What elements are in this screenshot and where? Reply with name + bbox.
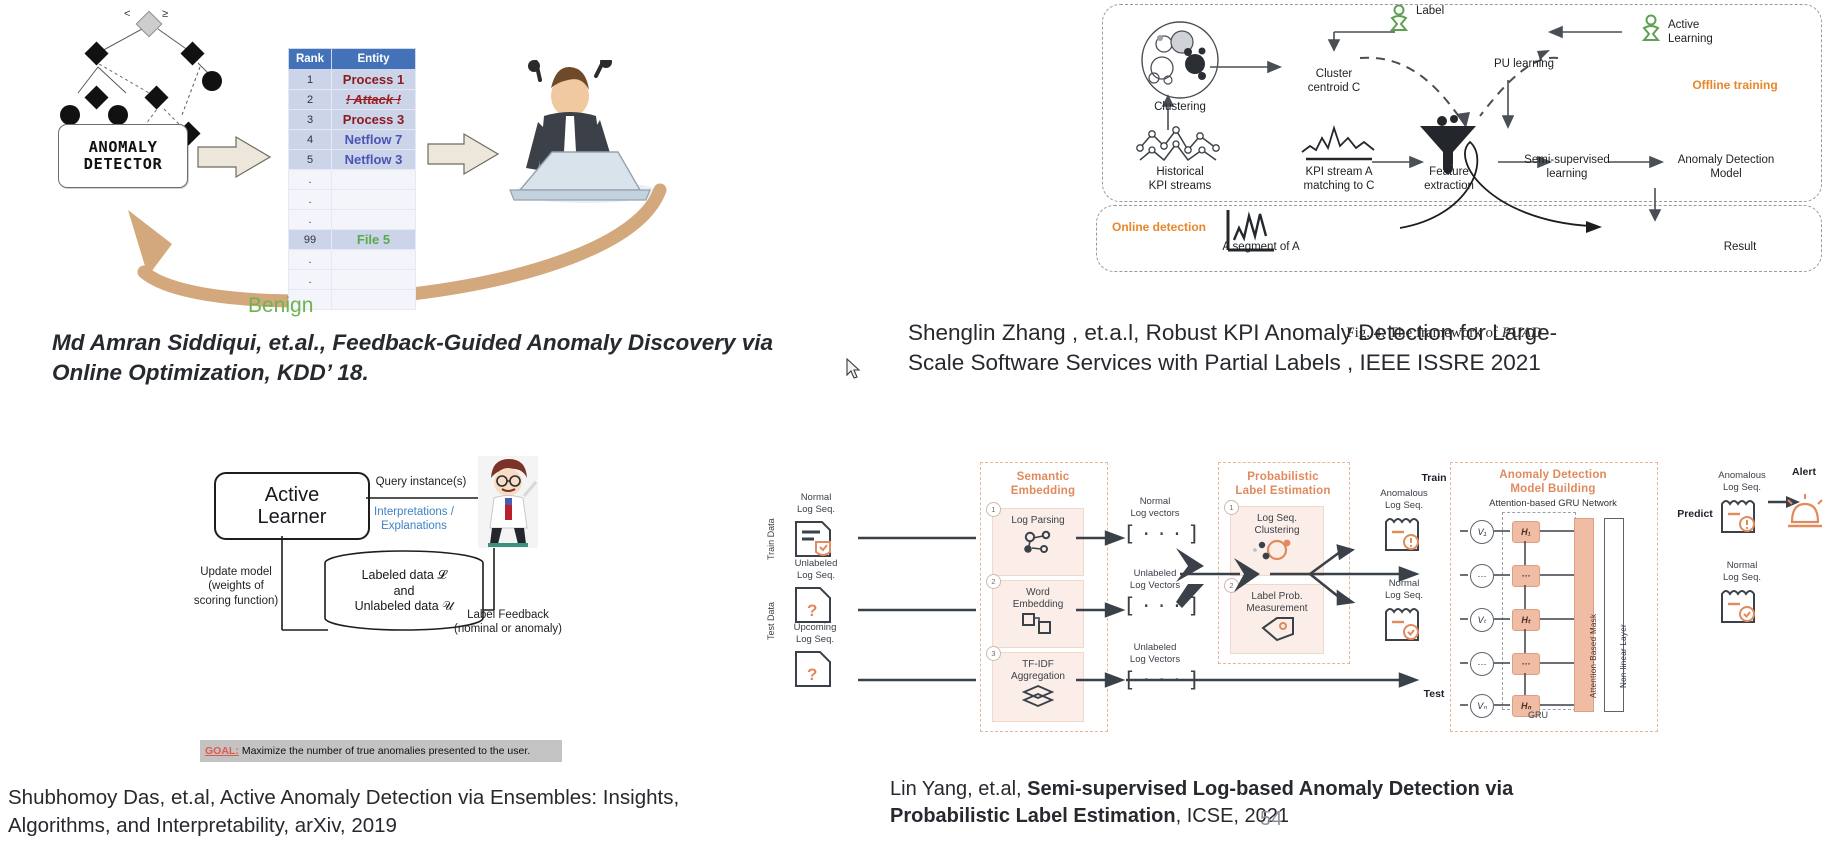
normal-log-doc-icon: [792, 520, 838, 560]
feature-extraction-label: Feature extraction: [1400, 165, 1498, 194]
table-cell-entity: Netflow 3: [332, 150, 416, 170]
table-cell-rank: .: [289, 250, 332, 270]
table-row: 2! Attack !: [289, 90, 416, 110]
table-cell-rank: 3: [289, 110, 332, 130]
table-cell-rank: 1: [289, 70, 332, 90]
table-cell-entity: [332, 190, 416, 210]
result-label: Result: [1700, 240, 1780, 254]
citation-das-line2: Algorithms, and Interpretability, arXiv,…: [8, 812, 798, 840]
citation-das-line1: Shubhomoy Das, et.al, Active Anomaly Det…: [8, 784, 798, 812]
analyst-expert-avatar: [478, 456, 538, 548]
table-cell-entity: [332, 210, 416, 230]
active-learning-person-icon: [1640, 14, 1662, 44]
column-header-rank: Rank: [289, 49, 332, 70]
detector-line-1: ANOMALY: [89, 139, 158, 156]
table-row: 1Process 1: [289, 70, 416, 90]
upcoming-log-doc-icon: ?: [792, 650, 838, 690]
active-learner-line2: Learner: [258, 506, 327, 528]
benign-loop-label: Benign: [248, 294, 313, 318]
active-learner-line1: Active: [265, 484, 319, 506]
table-cell-entity: [332, 270, 416, 290]
citation-siddiqui-line1: Md Amran Siddiqui, et.al., Feedback-Guid…: [52, 328, 812, 358]
citation-yang-line2: Probabilistic Label Estimation, ICSE, 20…: [890, 803, 1690, 830]
alert-label: Alert: [1776, 466, 1832, 479]
gru-network-block: V₁ ··· Vₜ ··· Vₙ H₁ ··· Hₜ ··· Hₙ Attent…: [1458, 512, 1648, 724]
pipeline-connectors: [840, 462, 1460, 730]
citation-yang-line1: Lin Yang, et.al, Semi-supervised Log-bas…: [890, 776, 1690, 803]
table-row: .: [289, 190, 416, 210]
table-cell-rank: 2: [289, 90, 332, 110]
table-cell-rank: 4: [289, 130, 332, 150]
train-data-side-label: Train Data: [766, 518, 776, 560]
table-cell-rank: .: [289, 210, 332, 230]
table-row: .: [289, 170, 416, 190]
column-header-entity: Entity: [332, 49, 416, 70]
pu-learning-label: PU learning: [1468, 57, 1580, 71]
active-learning-label: Active Learning: [1668, 18, 1748, 47]
goal-text: Maximize the number of true anomalies pr…: [242, 745, 530, 757]
mouse-cursor: [846, 358, 862, 380]
output-anomalous-icon: [1718, 496, 1762, 538]
anomaly-model-label: Anomaly Detection Model: [1654, 153, 1798, 182]
detector-line-2: DETECTOR: [84, 156, 163, 173]
label-node-label: Label: [1416, 4, 1476, 18]
table-header-row: Rank Entity: [289, 49, 416, 70]
kpi-stream-segment-icon: [1300, 124, 1384, 164]
output-anomalous-label: Anomalous Log Seq.: [1700, 470, 1784, 494]
tree-right-label: ≥: [162, 8, 168, 20]
citation-zhang: Shenglin Zhang , et.a.l, Robust KPI Anom…: [908, 318, 1798, 379]
nonlinear-layer-label: Non-linear Layer: [1619, 624, 1628, 688]
block-arrow-right-1: [196, 133, 276, 181]
kpi-match-label: KPI stream A matching to C: [1280, 165, 1398, 194]
datastore-line2: and: [313, 584, 495, 600]
citation-yang-plain1: Lin Yang, et.al,: [890, 778, 1027, 800]
table-cell-rank: .: [289, 270, 332, 290]
citation-zhang-line1: Shenglin Zhang , et.a.l, Robust KPI Anom…: [908, 318, 1798, 348]
table-cell-rank: 99: [289, 230, 332, 250]
citation-zhang-line2: Scale Software Services with Partial Lab…: [908, 348, 1798, 378]
goal-key-label: GOAL:: [205, 745, 239, 757]
datastore-line1: Labeled data 𝓛: [313, 568, 495, 584]
gru-subtitle: Attention-based GRU Network: [1450, 498, 1656, 510]
stage3-title: Anomaly Detection Model Building: [1450, 468, 1656, 497]
online-detection-label: Online detection: [1112, 220, 1242, 235]
anomaly-detector-box: ANOMALY DETECTOR: [58, 124, 188, 188]
citation-siddiqui-line2: Online Optimization, KDD’ 18.: [52, 358, 812, 388]
historical-kpi-streams-icon: [1136, 120, 1228, 168]
svg-text:?: ?: [807, 601, 817, 620]
citation-yang: Lin Yang, et.al, Semi-supervised Log-bas…: [890, 776, 1690, 830]
query-instances-label: Query instance(s): [355, 475, 487, 489]
block-arrow-right-2: [426, 130, 504, 178]
cluster-centroid-label: Cluster centroid C: [1276, 67, 1392, 96]
label-feedback-label: Label Feedback (nominal or anomaly): [432, 608, 584, 637]
table-row: .: [289, 210, 416, 230]
goal-banner: GOAL: Maximize the number of true anomal…: [200, 740, 562, 762]
svg-text:?: ?: [807, 665, 817, 684]
table-cell-rank: .: [289, 190, 332, 210]
semi-supervised-label: Semi-supervised learning: [1500, 153, 1634, 182]
table-cell-entity: [332, 290, 416, 310]
alert-siren-icon: [1782, 490, 1828, 534]
gru-label: GRU: [1502, 710, 1574, 721]
table-cell-entity: Process 3: [332, 110, 416, 130]
table-cell-entity: Process 1: [332, 70, 416, 90]
table-cell-rank: 5: [289, 150, 332, 170]
attention-mask-label: Attention-Based Mask: [1589, 614, 1598, 698]
table-row: 4Netflow 7: [289, 130, 416, 150]
tree-left-label: <: [124, 8, 130, 20]
ranked-entity-table: Rank Entity 1Process 12! Attack !3Proces…: [288, 48, 416, 310]
clustering-icon: [1138, 20, 1222, 100]
interpretations-label: Interpretations / Explanations: [356, 505, 472, 534]
output-normal-label: Normal Log Seq.: [1700, 560, 1784, 584]
citation-das: Shubhomoy Das, et.al, Active Anomaly Det…: [8, 784, 798, 839]
table-cell-entity: [332, 170, 416, 190]
table-row: .: [289, 250, 416, 270]
page-number: 54: [1260, 808, 1282, 831]
historical-kpi-label: Historical KPI streams: [1128, 165, 1232, 194]
active-learner-box: Active Learner: [214, 472, 370, 540]
table-cell-entity: Netflow 7: [332, 130, 416, 150]
output-normal-icon: [1718, 586, 1762, 628]
citation-yang-bold1: Semi-supervised Log-based Anomaly Detect…: [1027, 778, 1513, 800]
clustering-label: Clustering: [1130, 100, 1230, 114]
citation-yang-bold2: Probabilistic Label Estimation: [890, 805, 1176, 827]
unlabeled-log-doc-icon: ?: [792, 586, 838, 626]
label-person-icon: [1388, 4, 1410, 34]
table-cell-entity: ! Attack !: [332, 90, 416, 110]
table-row: 99File 5: [289, 230, 416, 250]
table-row: 3Process 3: [289, 110, 416, 130]
offline-training-label: Offline training: [1670, 78, 1800, 93]
table-cell-rank: .: [289, 170, 332, 190]
table-row: .: [289, 270, 416, 290]
anomaly-detector-figure: < ≥ ANOMALY DETECTOR Rank Entity: [0, 0, 880, 330]
citation-siddiqui: Md Amran Siddiqui, et.al., Feedback-Guid…: [52, 328, 812, 389]
table-cell-entity: [332, 250, 416, 270]
segment-of-a-label: A segment of A: [1206, 240, 1316, 254]
update-model-label: Update model (weights of scoring functio…: [176, 565, 296, 608]
table-cell-entity: File 5: [332, 230, 416, 250]
table-row: 5Netflow 3: [289, 150, 416, 170]
